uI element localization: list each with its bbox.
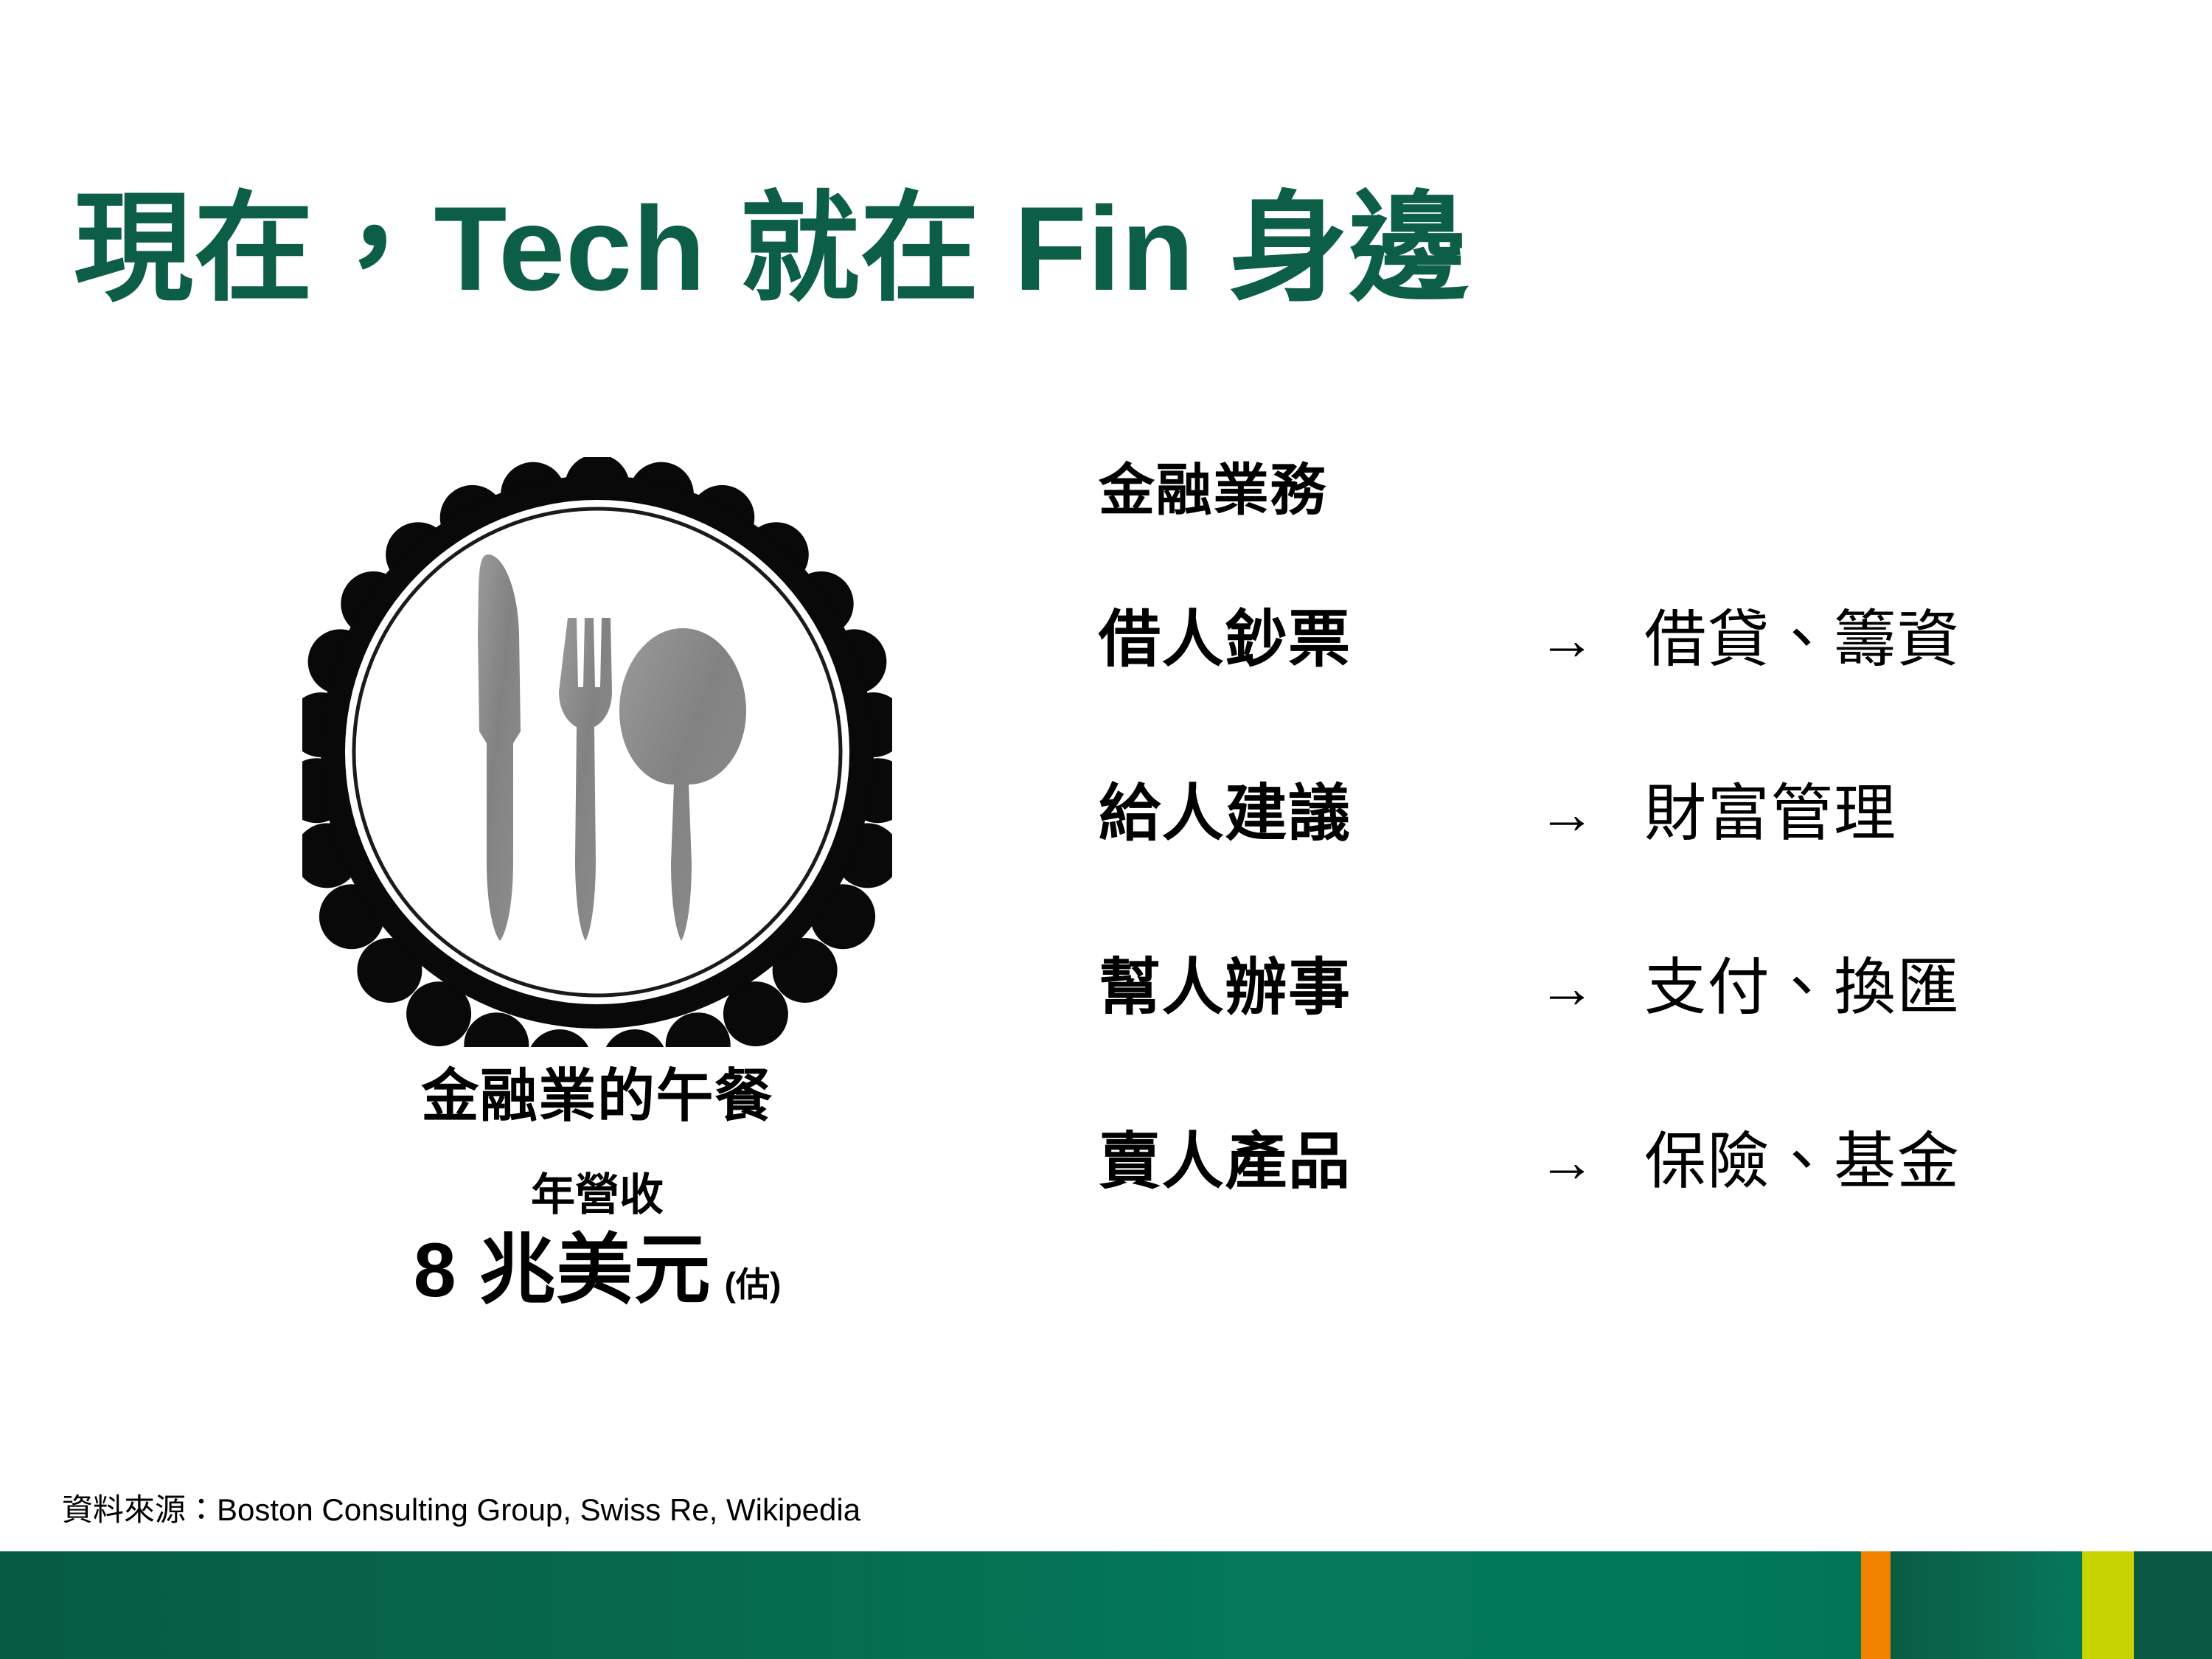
financial-services-panel: 金融業務 借人鈔票 → 借貸、籌資 給人建議 → 財富管理 幫人辦事 → 支付、… <box>1099 457 2146 1248</box>
service-row: 幫人辦事 → 支付、換匯 <box>1099 900 2146 1074</box>
revenue-value: 8 兆美元 <box>414 1228 712 1313</box>
arrow-right-icon: → <box>1489 785 1644 842</box>
service-name: 支付、換匯 <box>1644 952 2146 1023</box>
plate-cutlery-icon <box>302 457 892 1047</box>
service-row: 賣人產品 → 保險、基金 <box>1099 1074 2146 1248</box>
service-activity: 幫人辦事 <box>1099 952 1489 1023</box>
services-heading: 金融業務 <box>1099 457 2146 524</box>
footer-accent-dark-green-right <box>2134 1551 2212 1659</box>
service-row: 給人建議 → 財富管理 <box>1099 726 2146 900</box>
arrow-right-icon: → <box>1489 959 1644 1016</box>
page-title: 現在，Tech 就在 Fin 身邊 <box>74 176 1843 322</box>
footer-accent-orange <box>1861 1551 1891 1659</box>
footer-bar <box>0 1551 2212 1659</box>
revenue-label: 年營收 <box>221 1169 973 1220</box>
lunch-illustration-panel: 金融業的午餐 年營收 8 兆美元 (估) <box>221 457 973 1313</box>
revenue-estimate-note: (估) <box>725 1267 782 1301</box>
arrow-right-icon: → <box>1489 1133 1644 1190</box>
arrow-right-icon: → <box>1489 611 1644 668</box>
service-activity: 借人鈔票 <box>1099 604 1489 675</box>
revenue-value-row: 8 兆美元 (估) <box>221 1228 973 1313</box>
service-activity: 賣人產品 <box>1099 1126 1489 1197</box>
service-row: 借人鈔票 → 借貸、籌資 <box>1099 552 2146 726</box>
source-note: 資料來源：Boston Consulting Group, Swiss Re, … <box>62 1491 860 1530</box>
service-name: 財富管理 <box>1644 778 2146 849</box>
illustration-caption: 金融業的午餐 <box>221 1062 973 1131</box>
service-name: 保險、基金 <box>1644 1126 2146 1197</box>
footer-accent-dark-green-left <box>1891 1551 2082 1659</box>
footer-accent-chartreuse <box>2082 1551 2134 1659</box>
service-activity: 給人建議 <box>1099 778 1489 849</box>
service-name: 借貸、籌資 <box>1644 604 2146 675</box>
